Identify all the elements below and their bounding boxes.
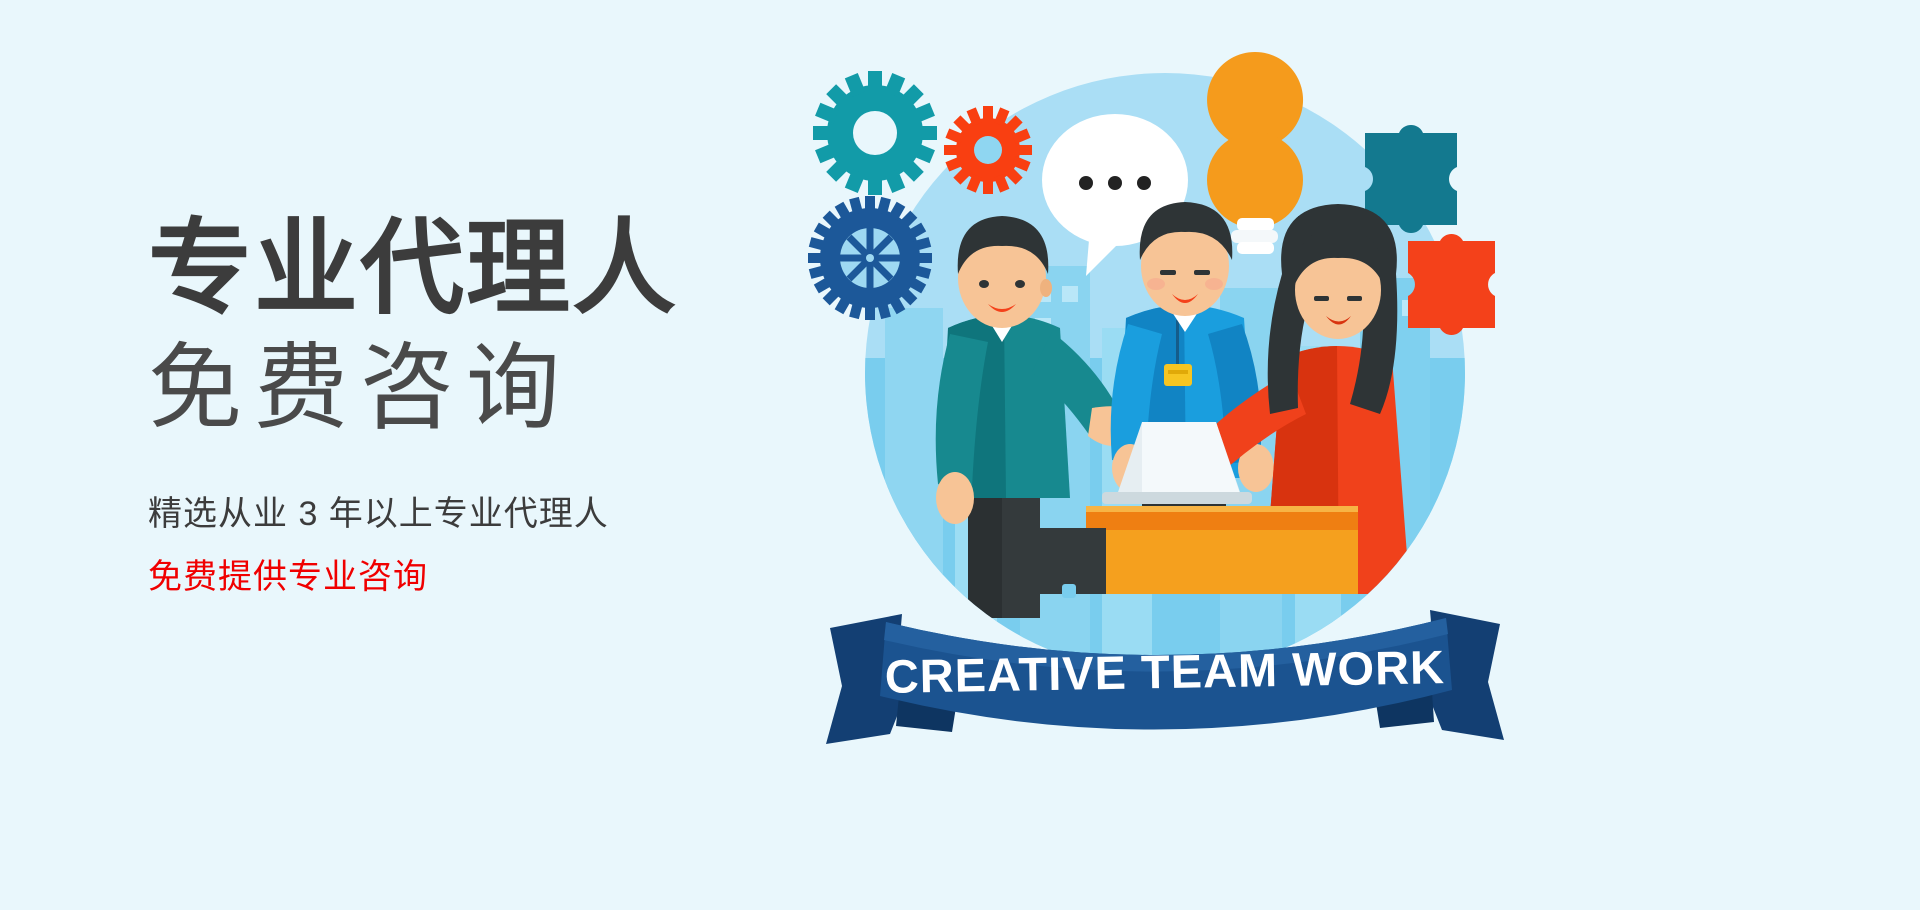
desk	[1086, 506, 1358, 594]
page-subtitle: 免费咨询	[148, 331, 768, 446]
teamwork-illustration: CREATIVE TEAM WORK	[790, 28, 1540, 888]
promo-banner: 专业代理人 免费咨询 精选从业 3 年以上专业代理人 免费提供专业咨询	[0, 0, 1920, 910]
ribbon-label: CREATIVE TEAM WORK	[884, 640, 1445, 703]
page-title: 专业代理人	[148, 214, 768, 325]
tagline-primary: 精选从业 3 年以上专业代理人	[148, 486, 768, 535]
gear-teal-icon	[813, 71, 937, 195]
text-block: 专业代理人 免费咨询 精选从业 3 年以上专业代理人 免费提供专业咨询	[148, 214, 768, 598]
briefcase	[1036, 528, 1106, 598]
tagline-highlight: 免费提供专业咨询	[148, 549, 768, 598]
puzzle-piece-red-icon	[1408, 234, 1495, 335]
